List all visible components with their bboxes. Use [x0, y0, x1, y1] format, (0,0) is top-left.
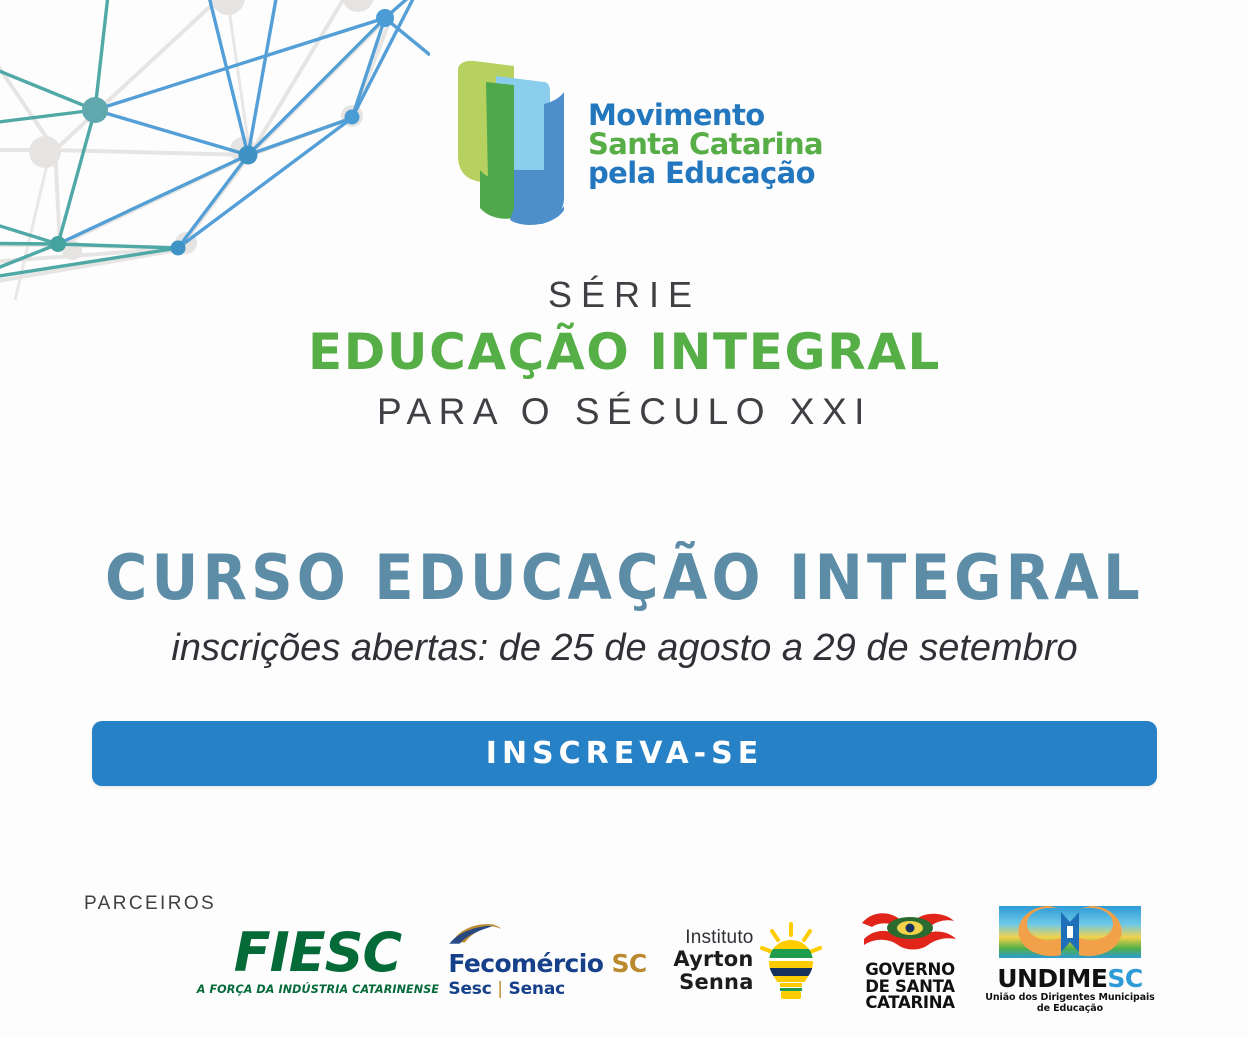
fecomercio-swoosh-icon	[448, 923, 526, 945]
partner-logo-undime-sc[interactable]: UNDIMESC União dos Dirigentes Municipais…	[980, 906, 1160, 1015]
fecomercio-state: SC	[611, 949, 646, 978]
senac-label: Senac	[509, 979, 565, 999]
series-subtitle: PARA O SÉCULO XXI	[0, 389, 1249, 435]
ias-line-1: Instituto	[673, 928, 753, 949]
network-node	[50, 236, 66, 252]
course-dates: inscrições abertas: de 25 de agosto a 29…	[0, 626, 1249, 672]
movimento-sc-book-logo-icon	[452, 58, 574, 230]
ias-line-3: Senna	[673, 971, 753, 994]
undime-sub-line-2: de Educação	[985, 1004, 1154, 1015]
gov-line-3: CATARINA	[854, 995, 966, 1012]
fecomercio-sub: Sesc | Senac	[448, 979, 646, 999]
santa-catarina-flag-icon	[854, 909, 966, 955]
undime-state: SC	[1107, 964, 1142, 993]
undime-name: UNDIMESC	[985, 966, 1154, 991]
network-node	[376, 9, 394, 27]
partner-logo-fecomercio[interactable]: Fecomércio SC Sesc | Senac	[440, 923, 655, 999]
network-nodes-graphic	[0, 0, 430, 300]
course-block: CURSO EDUCAÇÃO INTEGRAL inscrições abert…	[0, 545, 1249, 672]
fecomercio-name: Fecomércio SC	[448, 951, 646, 976]
ias-line-2: Ayrton	[673, 948, 753, 971]
wordmark-line-2: Santa Catarina	[588, 130, 823, 159]
brand-logo: Movimento Santa Catarina pela Educação	[452, 58, 802, 230]
wordmark-line-3: pela Educação	[588, 159, 823, 188]
wordmark-line-1: Movimento	[588, 101, 823, 130]
series-block: SÉRIE EDUCAÇÃO INTEGRAL PARA O SÉCULO XX…	[0, 272, 1249, 435]
partner-logo-governo-santa-catarina[interactable]: GOVERNO DE SANTA CATARINA	[840, 909, 980, 1012]
fiesc-name: FIESC	[193, 926, 443, 980]
partners-row: FIESC A FORÇA DA INDÚSTRIA CATARINENSE F…	[195, 898, 1225, 1023]
network-node	[239, 146, 258, 165]
partner-logo-instituto-ayrton-senna[interactable]: Instituto Ayrton Senna	[655, 922, 840, 1000]
inscreva-se-button[interactable]: INSCREVA-SE	[92, 721, 1157, 786]
fecomercio-word: Fecomércio	[448, 949, 603, 978]
undime-word: UNDIME	[997, 964, 1107, 993]
divider: |	[497, 979, 503, 999]
network-node	[345, 110, 360, 125]
series-kicker: SÉRIE	[0, 272, 1249, 317]
fiesc-tagline: A FORÇA DA INDÚSTRIA CATARINENSE	[196, 982, 438, 996]
partner-logo-fiesc[interactable]: FIESC A FORÇA DA INDÚSTRIA CATARINENSE	[195, 926, 440, 996]
network-node	[82, 97, 108, 123]
course-title: CURSO EDUCAÇÃO INTEGRAL	[44, 545, 1206, 610]
promo-banner: Movimento Santa Catarina pela Educação S…	[0, 0, 1249, 1037]
undime-sub: União dos Dirigentes Municipais de Educa…	[985, 993, 1154, 1015]
sesc-label: Sesc	[448, 979, 491, 999]
lightbulb-icon	[760, 922, 822, 1000]
brand-wordmark: Movimento Santa Catarina pela Educação	[588, 101, 823, 188]
series-title: EDUCAÇÃO INTEGRAL	[0, 319, 1249, 385]
governo-name: GOVERNO DE SANTA CATARINA	[854, 962, 966, 1012]
network-node	[171, 241, 186, 256]
undime-butterfly-icon	[999, 906, 1141, 958]
